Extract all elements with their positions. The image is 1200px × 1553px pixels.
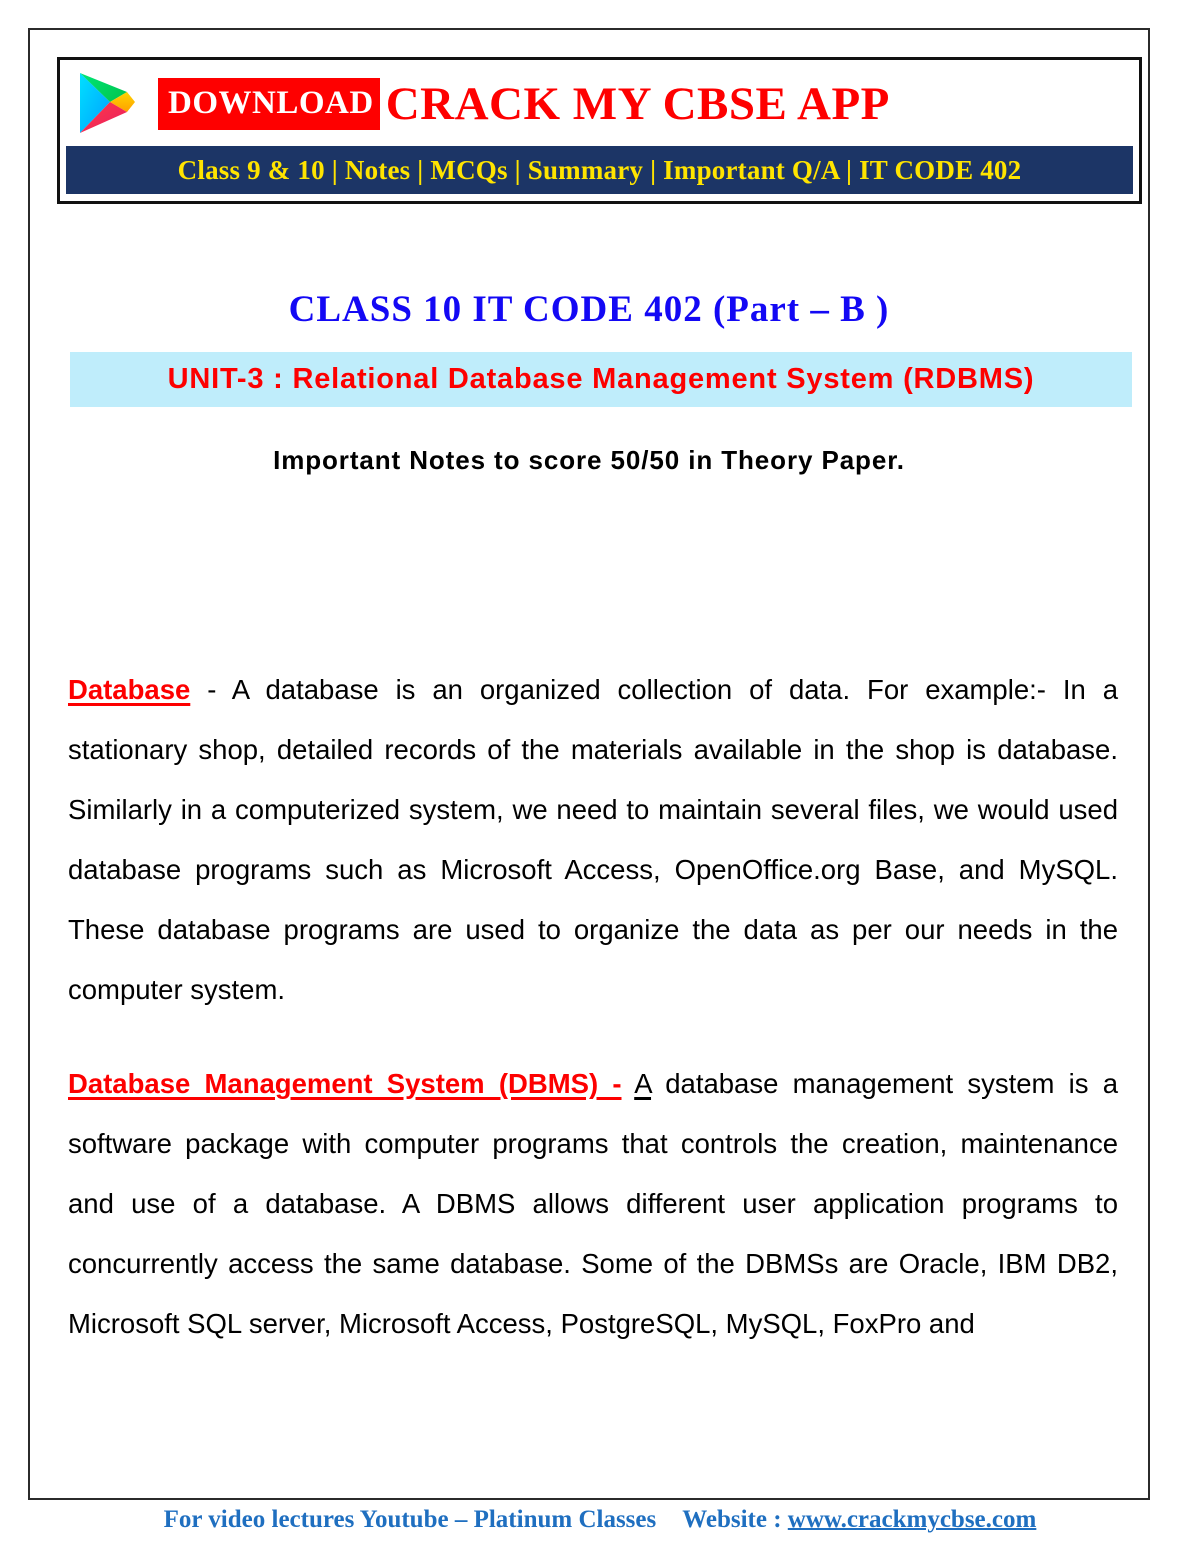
term-separator-1 <box>622 1068 635 1099</box>
class-heading: CLASS 10 IT CODE 402 (Part – B ) <box>30 288 1148 331</box>
header-banner: DOWNLOAD CRACK MY CBSE APP Class 9 & 10 … <box>57 57 1142 204</box>
header-strip-label: Class 9 & 10 | Notes | MCQs | Summary | … <box>178 155 1022 186</box>
term-database: Database <box>68 674 190 705</box>
notes-subtitle: Important Notes to score 50/50 in Theory… <box>30 445 1148 476</box>
footer-website-link[interactable]: www.crackmycbse.com <box>788 1506 1037 1533</box>
footer-website-label: Website : <box>682 1506 788 1533</box>
unit-title-band: UNIT-3 : Relational Database Management … <box>70 352 1132 407</box>
app-title: CRACK MY CBSE APP <box>386 81 890 128</box>
page-frame: DOWNLOAD CRACK MY CBSE APP Class 9 & 10 … <box>28 28 1150 1500</box>
page-footer: For video lectures Youtube – Platinum Cl… <box>0 1506 1200 1534</box>
paragraph-dbms-text: database management system is a software… <box>68 1068 1118 1339</box>
body-content: Database - A database is an organized co… <box>68 660 1118 1388</box>
paragraph-database-text: A database is an organized collection of… <box>68 674 1118 1005</box>
header-subject-strip: Class 9 & 10 | Notes | MCQs | Summary | … <box>66 146 1133 194</box>
term-dbms: Database Management System (DBMS) - <box>68 1068 622 1099</box>
download-badge[interactable]: DOWNLOAD <box>158 78 380 130</box>
paragraph-dbms: Database Management System (DBMS) - A da… <box>68 1054 1118 1354</box>
unit-title-label: UNIT-3 : Relational Database Management … <box>168 363 1035 396</box>
term-separator-0: - <box>190 674 231 705</box>
footer-lectures-label: For video lectures Youtube – Platinum Cl… <box>164 1506 657 1533</box>
header-top-row: DOWNLOAD CRACK MY CBSE APP <box>60 60 1139 146</box>
paragraph-database: Database - A database is an organized co… <box>68 660 1118 1020</box>
paragraph-dbms-lead-char: A <box>634 1068 651 1099</box>
google-play-icon <box>76 71 138 137</box>
